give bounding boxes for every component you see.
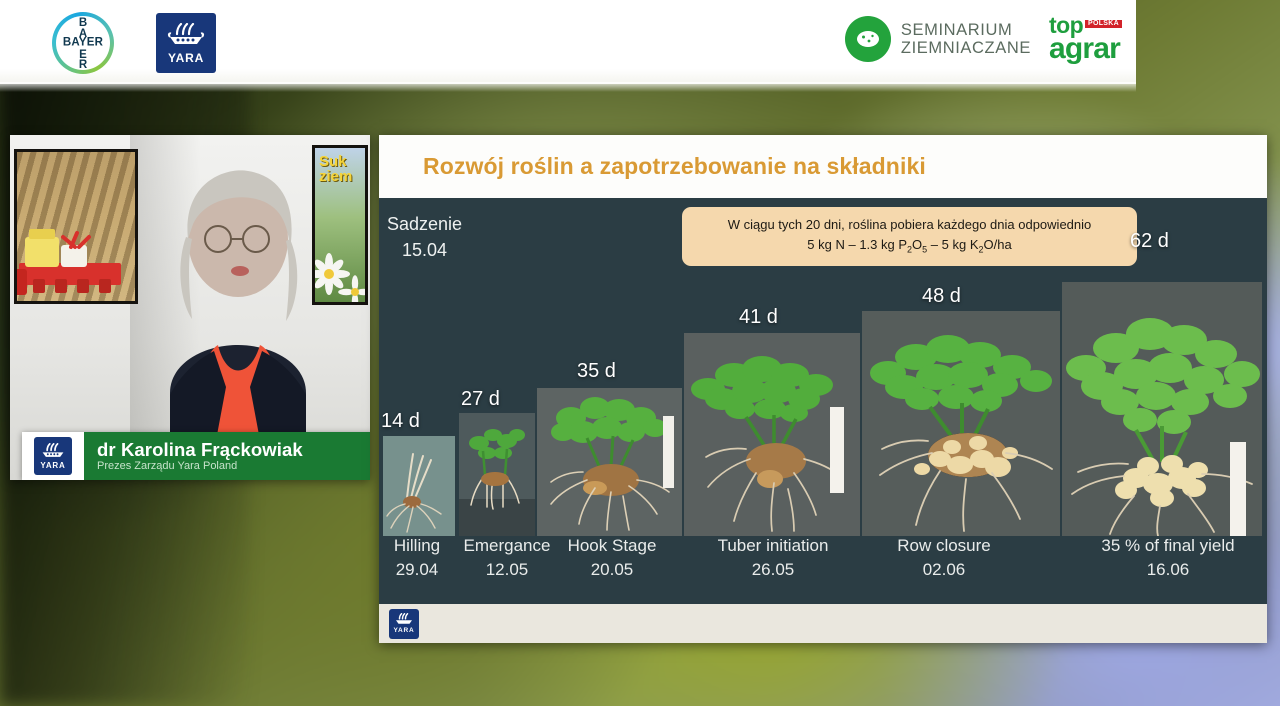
callout-line2-mid: O [912, 237, 922, 252]
speaker-name: dr Karolina Frąckowiak [97, 440, 303, 460]
yara-ship-icon [166, 23, 206, 50]
speaker-video-panel[interactable]: Sukziem [10, 135, 370, 480]
yara-ship-icon [394, 613, 414, 627]
sponsor-logos-left: B A Y E R BAYER [52, 12, 216, 74]
stage-day-label-41d: 41 d [739, 306, 778, 329]
callout-line-1: W ciągu tych 20 dni, roślina pobiera każ… [692, 215, 1127, 235]
seminarium-ziemniaczane-logo: SEMINARIUM ZIEMNIACZANE [845, 16, 1031, 62]
callout-line-2: 5 kg N – 1.3 kg P2O5 – 5 kg K2O/ha [692, 235, 1127, 257]
sponsor-header-bar: B A Y E R BAYER [0, 0, 1136, 84]
presentation-slide[interactable]: Rozwój roślin a zapotrzebowanie na skład… [379, 135, 1267, 643]
yara-logo-label: YARA [40, 462, 65, 470]
callout-line2-prefix: 5 kg N – 1.3 kg P [807, 237, 907, 252]
caption-hilling: Hilling 29.04 [379, 534, 455, 582]
nutrient-uptake-callout: W ciągu tych 20 dni, roślina pobiera każ… [682, 207, 1137, 266]
stage-captions-row: Hilling 29.04 Emergance 12.05 Hook Stage… [379, 532, 1267, 604]
stage-day-label-14d: 14 d [381, 410, 420, 433]
caption-emergance-label: Emergance [464, 536, 551, 555]
caption-final-yield-label: 35 % of final yield [1101, 536, 1234, 555]
sponsor-logos-right: SEMINARIUM ZIEMNIACZANE POLSKA top agrar [845, 16, 1124, 62]
stage-day-label-27d: 27 d [461, 388, 500, 411]
caption-hook-stage-label: Hook Stage [568, 536, 657, 555]
yara-logo: YARA [156, 13, 216, 73]
slide-body: Sadzenie 15.04 W ciągu tych 20 dni, rośl… [379, 198, 1267, 604]
speaker-banner-logo: YARA [22, 432, 84, 480]
poster-potato-planter [14, 149, 138, 304]
callout-line2-end: O/ha [984, 237, 1012, 252]
yara-logo-label: YARA [393, 628, 414, 635]
potato-circle-icon [845, 16, 891, 62]
caption-tuber-initiation: Tuber initiation 26.05 [689, 534, 857, 582]
yara-logo-label: YARA [168, 52, 204, 64]
stage-35d: 35 d [537, 388, 682, 536]
speaker-name-banner: YARA dr Karolina Frąckowiak Prezes Zarzą… [22, 432, 370, 480]
caption-emergance-date: 12.05 [449, 558, 565, 582]
caption-hook-stage-date: 20.05 [557, 558, 667, 582]
slide-title: Rozwój roślin a zapotrzebowanie na skład… [423, 153, 926, 180]
caption-row-closure: Row closure 02.06 [869, 534, 1019, 582]
top-agrar-logo: POLSKA top agrar [1049, 16, 1124, 62]
seminarium-line1: SEMINARIUM [901, 21, 1031, 39]
caption-hilling-label: Hilling [394, 536, 440, 555]
caption-hilling-date: 29.04 [379, 558, 455, 582]
bayer-letter-r: R [79, 60, 87, 71]
stage-day-label-62d: 62 d [1130, 230, 1169, 253]
planting-date: 15.04 [387, 237, 462, 263]
stage-photo-41d [684, 333, 860, 536]
stage-62d: 62 d [1062, 282, 1262, 536]
stage-day-label-35d: 35 d [577, 360, 616, 383]
top-agrar-polska-badge: POLSKA [1085, 20, 1122, 28]
stage-41d: 41 d [684, 333, 860, 536]
stage-photo-48d [862, 311, 1060, 536]
stage-photo-62d [1062, 282, 1262, 536]
bayer-letter-b: B [79, 18, 87, 29]
slide-footer: YARA [379, 604, 1267, 643]
stage-14d: 14 d [383, 436, 455, 536]
caption-row-closure-label: Row closure [897, 536, 991, 555]
stage-day-label-48d: 48 d [922, 285, 961, 308]
stage-photo-14d [383, 436, 455, 536]
caption-final-yield: 35 % of final yield 16.06 [1069, 534, 1267, 582]
callout-line2-suffix: – 5 kg K [927, 237, 978, 252]
speaker-portrait [130, 153, 345, 480]
top-agrar-line2: agrar [1049, 36, 1120, 62]
bayer-logo-horizontal: BAYER [59, 37, 107, 49]
yara-ship-icon [40, 443, 66, 461]
stage-48d: 48 d [862, 311, 1060, 536]
caption-tuber-initiation-date: 26.05 [689, 558, 857, 582]
planting-label-text: Sadzenie [387, 214, 462, 234]
seminarium-line2: ZIEMNIACZANE [901, 39, 1031, 57]
speaker-role: Prezes Zarządu Yara Poland [97, 460, 303, 472]
caption-row-closure-date: 02.06 [869, 558, 1019, 582]
stage-photo-35d [537, 388, 682, 536]
caption-tuber-initiation-label: Tuber initiation [718, 536, 829, 555]
slide-footer-yara-logo: YARA [389, 609, 419, 639]
caption-final-yield-date: 16.06 [1069, 558, 1267, 582]
bayer-logo: B A Y E R BAYER [52, 12, 114, 74]
planting-label: Sadzenie 15.04 [387, 211, 462, 263]
caption-hook-stage: Hook Stage 20.05 [557, 534, 667, 582]
stage-27d: 27 d [459, 413, 535, 536]
stage-photo-27d [459, 413, 535, 536]
caption-emergance: Emergance 12.05 [449, 534, 565, 582]
